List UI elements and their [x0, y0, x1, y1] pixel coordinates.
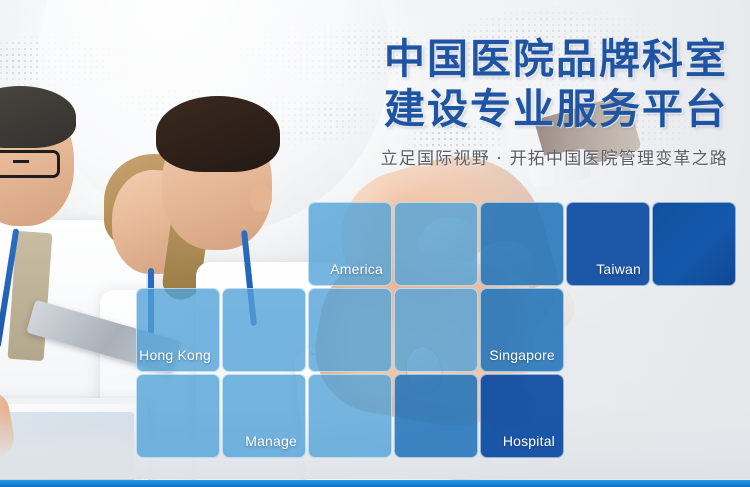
bottom-accent-bar [0, 480, 750, 487]
tile-hong-kong[interactable]: Hong Kong [136, 288, 220, 372]
tile-blank-r3c4[interactable] [394, 374, 478, 458]
headline-subtitle: 立足国际视野 · 开拓中国医院管理变革之路 [381, 144, 728, 169]
headline-line-2: 建设专业服务平台 [381, 84, 728, 134]
tile-label: Taiwan [596, 261, 641, 277]
tile-blank-r2c3[interactable] [308, 288, 392, 372]
tile-blank-r1c2[interactable] [394, 202, 478, 286]
headline-block: 中国医院品牌科室 建设专业服务平台 立足国际视野 · 开拓中国医院管理变革之路 [381, 34, 728, 169]
promo-banner: Hong Kong America Taiwan Singapore [0, 0, 750, 487]
tile-blank-r1c3[interactable] [480, 202, 564, 286]
tile-blank-r1c5[interactable] [652, 202, 736, 286]
tile-manage[interactable]: Manage [222, 374, 306, 458]
tile-label: America [330, 261, 383, 277]
tile-hospital[interactable]: Hospital [480, 374, 564, 458]
tile-singapore[interactable]: Singapore [480, 288, 564, 372]
tile-blank-r3c1[interactable] [136, 374, 220, 458]
tile-blank-r2c2[interactable] [222, 288, 306, 372]
headline-line-1: 中国医院品牌科室 [381, 34, 728, 84]
tile-taiwan[interactable]: Taiwan [566, 202, 650, 286]
tile-america[interactable]: America [308, 202, 392, 286]
tile-label: Hospital [503, 433, 555, 449]
tile-label: Hong Kong [139, 347, 211, 363]
tile-label: Manage [245, 433, 297, 449]
tile-blank-r3c3[interactable] [308, 374, 392, 458]
tile-blank-r2c4[interactable] [394, 288, 478, 372]
tile-label: Singapore [489, 347, 555, 363]
